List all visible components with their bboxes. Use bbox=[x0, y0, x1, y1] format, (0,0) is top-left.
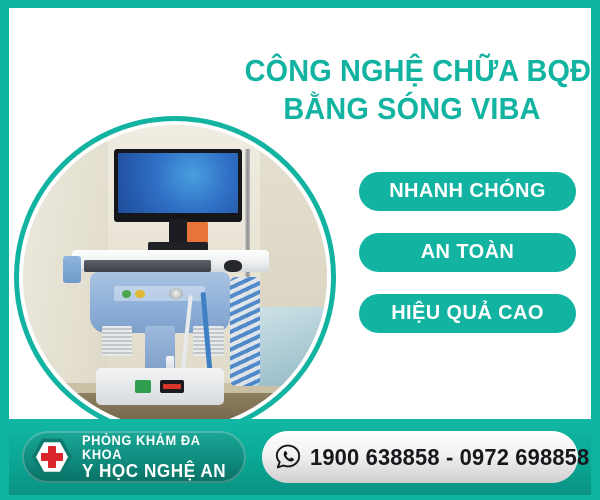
photo-indicator-yellow bbox=[135, 290, 144, 298]
frame-border-right bbox=[591, 0, 600, 500]
clinic-logo-badge[interactable]: PHÒNG KHÁM ĐA KHOA Y HỌC NGHỆ AN bbox=[22, 431, 246, 483]
photo-device-body bbox=[90, 272, 230, 333]
headline-line-1: CÔNG NGHỆ CHỮA BQĐ bbox=[245, 52, 580, 90]
photo-digital-display bbox=[160, 380, 184, 392]
headline: CÔNG NGHỆ CHỮA BQĐ BẰNG SÓNG VIBA bbox=[232, 52, 592, 128]
feature-list: NHANH CHÓNG AN TOÀN HIỆU QUẢ CAO bbox=[359, 172, 576, 333]
frame-border-left bbox=[0, 0, 9, 500]
phone-number: 1900 638858 - 0972 698858 bbox=[310, 444, 589, 471]
photo-device-knob bbox=[169, 288, 183, 300]
clinic-equipment-photo bbox=[23, 125, 327, 429]
clinic-name: PHÒNG KHÁM ĐA KHOA Y HỌC NGHỆ AN bbox=[82, 434, 246, 480]
photo-mouse bbox=[224, 260, 242, 273]
headline-line-2: BẰNG SÓNG VIBA bbox=[245, 90, 580, 128]
photo-monitor bbox=[114, 149, 242, 222]
feature-pill-safe[interactable]: AN TOÀN bbox=[359, 233, 576, 272]
photo-side-tray bbox=[63, 256, 81, 283]
frame-border-top bbox=[0, 0, 600, 8]
cross-horizontal-bar bbox=[41, 453, 63, 461]
photo-power-switch bbox=[135, 380, 150, 392]
clinic-name-line-2: Y HỌC NGHỆ AN bbox=[82, 462, 238, 480]
clinic-name-line-1: PHÒNG KHÁM ĐA KHOA bbox=[82, 434, 238, 462]
photo-cable-coil bbox=[230, 277, 260, 386]
promo-banner: CÔNG NGHỆ CHỮA BQĐ BẰNG SÓNG VIBA NHANH … bbox=[0, 0, 600, 500]
feature-pill-effective[interactable]: HIỆU QUẢ CAO bbox=[359, 294, 576, 333]
photo-monitor-stand-neck bbox=[169, 219, 187, 243]
medical-cross-icon bbox=[32, 437, 72, 477]
photo-keyboard bbox=[84, 260, 212, 272]
feature-pill-fast[interactable]: NHANH CHÓNG bbox=[359, 172, 576, 211]
phone-bubble-icon bbox=[274, 443, 304, 471]
contact-phone-badge[interactable]: 1900 638858 - 0972 698858 bbox=[262, 431, 578, 483]
photo-vent-left bbox=[102, 326, 132, 356]
photo-indicator-green bbox=[122, 290, 131, 298]
photo-monitor-screen bbox=[118, 153, 238, 213]
product-photo-circle bbox=[14, 116, 336, 438]
frame-border-bottom bbox=[0, 495, 600, 500]
